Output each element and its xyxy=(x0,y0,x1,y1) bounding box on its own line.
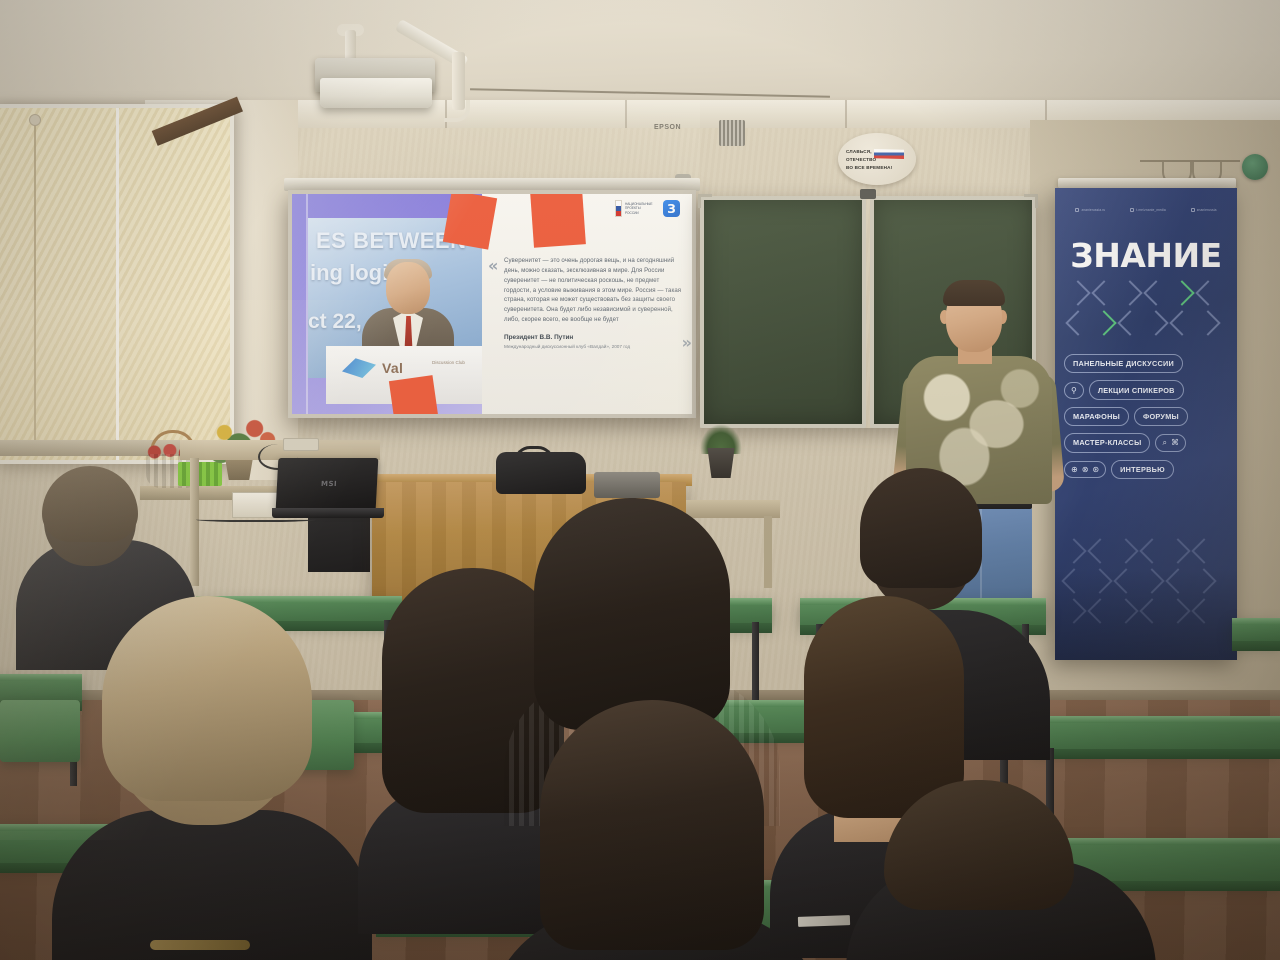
chair-left xyxy=(0,700,80,762)
slide-shape-orange-top xyxy=(530,194,586,248)
lectern-text: Val xyxy=(382,360,403,376)
soccer-ball-icon: ⊕ xyxy=(1071,465,1078,474)
patriotic-wall-emblem: СЛАВЬСЯ, ОТЕЧЕСТВО ВО ВСЕ ВРЕМЕНА! xyxy=(838,133,916,185)
banner-tag-masterclasses: МАСТЕР-КЛАССЫ xyxy=(1064,433,1150,452)
emblem-line-3: ВО ВСЕ ВРЕМЕНА! xyxy=(846,165,892,170)
banner-tag-row-3: МАРАФОНЫ ФОРУМЫ xyxy=(1064,407,1228,426)
floor-cable xyxy=(196,516,316,522)
window xyxy=(0,104,234,464)
banner-top-rail xyxy=(1058,178,1236,188)
black-bag xyxy=(496,452,586,494)
banner-social-handles: znanierussia.ru t.me/znanie_media znanie… xyxy=(1055,208,1237,212)
banner-tag-list: ПАНЕЛЬНЫЕ ДИСКУССИИ ⚲ ЛЕКЦИИ СПИКЕРОВ МА… xyxy=(1064,354,1228,486)
wall-green-badge xyxy=(1242,154,1268,180)
chalkboard-clip-icon xyxy=(860,189,876,199)
search-icon: ⚲ xyxy=(1064,382,1084,399)
necklace xyxy=(150,940,250,950)
student-blonde-foreground xyxy=(92,610,342,960)
banner-tag-row-5: ⊕ ⊗ ⊛ ИНТЕРВЬЮ xyxy=(1064,460,1228,479)
social-handle-2: t.me/znanie_media xyxy=(1130,208,1166,212)
portrait-head xyxy=(386,262,430,314)
student-hair-dark xyxy=(884,780,1074,910)
znanie-wordmark: ЗНАНИЕ xyxy=(1055,236,1237,275)
globe-icon xyxy=(1075,208,1079,212)
student-bottom-right xyxy=(866,780,1126,960)
banner-tag-forums: ФОРУМЫ xyxy=(1134,407,1188,426)
slide-photo-text-3: ct 22, xyxy=(308,310,362,334)
slide-logo-group: НАЦИОНАЛЬНЫЕ ПРОЕКТЫ РОССИИ З xyxy=(615,200,680,217)
student-hair-dark xyxy=(860,468,982,588)
laptop[interactable]: MSI xyxy=(276,458,379,510)
znanie-banner: znanierussia.ru t.me/znanie_media znanie… xyxy=(1055,188,1237,660)
znanie-logo-icon: З xyxy=(663,200,680,217)
banner-arrow-pattern xyxy=(1069,284,1229,342)
slide-shape-orange-left xyxy=(443,194,497,250)
gamepad-icon-group: ⌕ ⌘ xyxy=(1155,434,1185,452)
valdai-logo-icon xyxy=(342,356,376,378)
desk-row2-far-left xyxy=(0,674,82,702)
social-handle-3-label: znanierussia xyxy=(1197,208,1217,212)
chair-label-tag xyxy=(798,915,850,927)
presentation-slide: ES BETWEEN ing logic o ct 22, xyxy=(292,194,692,414)
projection-screen: ES BETWEEN ing logic o ct 22, xyxy=(288,190,696,418)
banner-tag-row-4: МАСТЕР-КЛАССЫ ⌕ ⌘ xyxy=(1064,433,1228,452)
social-handle-1: znanierussia.ru xyxy=(1075,208,1105,212)
banner-tag-row-1: ПАНЕЛЬНЫЕ ДИСКУССИИ xyxy=(1064,354,1228,373)
national-projects-logo: НАЦИОНАЛЬНЫЕ ПРОЕКТЫ РОССИИ xyxy=(615,200,655,217)
game-controller-icon: ⌕ xyxy=(1162,438,1166,448)
student-hair xyxy=(42,466,138,542)
emblem-flag-icon xyxy=(874,149,904,159)
slide-shape-orange-bottom xyxy=(389,375,439,414)
quote-close-icon: » xyxy=(682,335,692,351)
banner-tag-row-2: ⚲ ЛЕКЦИИ СПИКЕРОВ xyxy=(1064,380,1228,399)
slide-quote-author: Президент В.В. Путин xyxy=(504,334,688,341)
classroom-photo: EPSON ES BETWEEN ing logic o ct 22, xyxy=(0,0,1280,960)
lectern-subtext: Discussion Club xyxy=(432,360,465,367)
sports-icon-group: ⊕ ⊗ ⊛ xyxy=(1064,461,1106,478)
vk-icon xyxy=(1191,208,1195,212)
banner-tag-marathons: МАРАФОНЫ xyxy=(1064,407,1129,426)
student-hair-dark-long xyxy=(540,700,764,950)
laptop-brand-label: MSI xyxy=(321,480,338,488)
projector-vent xyxy=(719,120,745,146)
projector-brand-label: EPSON xyxy=(654,124,681,131)
student-hair-blonde xyxy=(102,596,312,801)
banner-tag-speaker-lectures: ЛЕКЦИИ СПИКЕРОВ xyxy=(1089,380,1184,399)
social-handle-2-label: t.me/znanie_media xyxy=(1136,208,1166,212)
desk-far-right xyxy=(1232,618,1280,642)
side-desk-leg xyxy=(764,516,772,588)
social-handle-1-label: znanierussia.ru xyxy=(1081,208,1105,212)
banner-tag-panel-discussions: ПАНЕЛЬНЫЕ ДИСКУССИИ xyxy=(1064,354,1183,373)
slide-quote-text: Суверенитет — это очень дорогая вещь, и … xyxy=(504,256,688,325)
student-foreground-center xyxy=(540,700,770,960)
student-hair-dark xyxy=(534,498,730,730)
telegram-icon xyxy=(1130,208,1134,212)
national-projects-label: НАЦИОНАЛЬНЫЕ ПРОЕКТЫ РОССИИ xyxy=(625,202,655,215)
volleyball-icon: ⊛ xyxy=(1092,465,1099,474)
projector-body xyxy=(320,78,432,108)
blind-seam xyxy=(116,108,119,460)
grey-box xyxy=(594,472,660,498)
banner-tag-interviews: ИНТЕРВЬЮ xyxy=(1111,460,1174,479)
desk-row2-far-right xyxy=(1030,716,1280,750)
banner-bottom-shadow xyxy=(1055,570,1237,660)
russian-flag-icon xyxy=(615,200,622,217)
emblem-line-2: ОТЕЧЕСТВО xyxy=(846,157,876,162)
blind-knob-icon[interactable] xyxy=(29,114,41,126)
slide-quote-block: « Суверенитет — это очень дорогая вещь, … xyxy=(490,256,692,349)
social-handle-3: znanierussia xyxy=(1191,208,1217,212)
chalkboard-panel-left xyxy=(700,196,866,428)
basketball-icon: ⊗ xyxy=(1082,465,1089,474)
lecturer-hair xyxy=(943,280,1005,306)
student-torso xyxy=(52,810,372,960)
blind-cord[interactable] xyxy=(34,118,36,448)
slide-quote-source: Международный дискуссионный клуб «Валдай… xyxy=(504,344,688,349)
gamepad-icon: ⌘ xyxy=(1171,438,1179,447)
emblem-line-1: СЛАВЬСЯ, xyxy=(846,149,872,154)
quote-open-icon: « xyxy=(488,258,498,274)
